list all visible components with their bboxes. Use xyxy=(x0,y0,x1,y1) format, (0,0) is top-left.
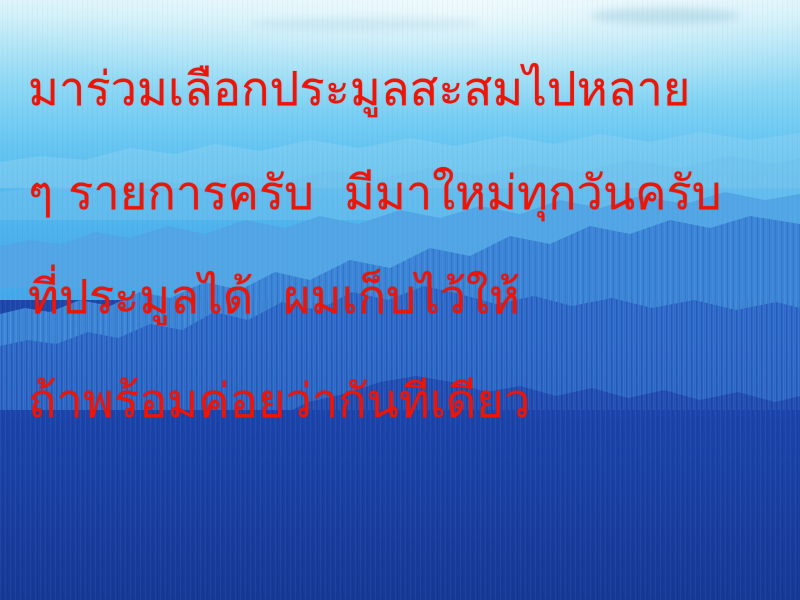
landscape-photo: มาร่วมเลือกประมูลสะสมไปหลาย ๆ รายการครับ… xyxy=(0,0,800,600)
cloud-wisp-icon xyxy=(590,8,740,24)
cloud-wisp-secondary-icon xyxy=(250,18,480,30)
foreground-fill xyxy=(0,410,800,600)
